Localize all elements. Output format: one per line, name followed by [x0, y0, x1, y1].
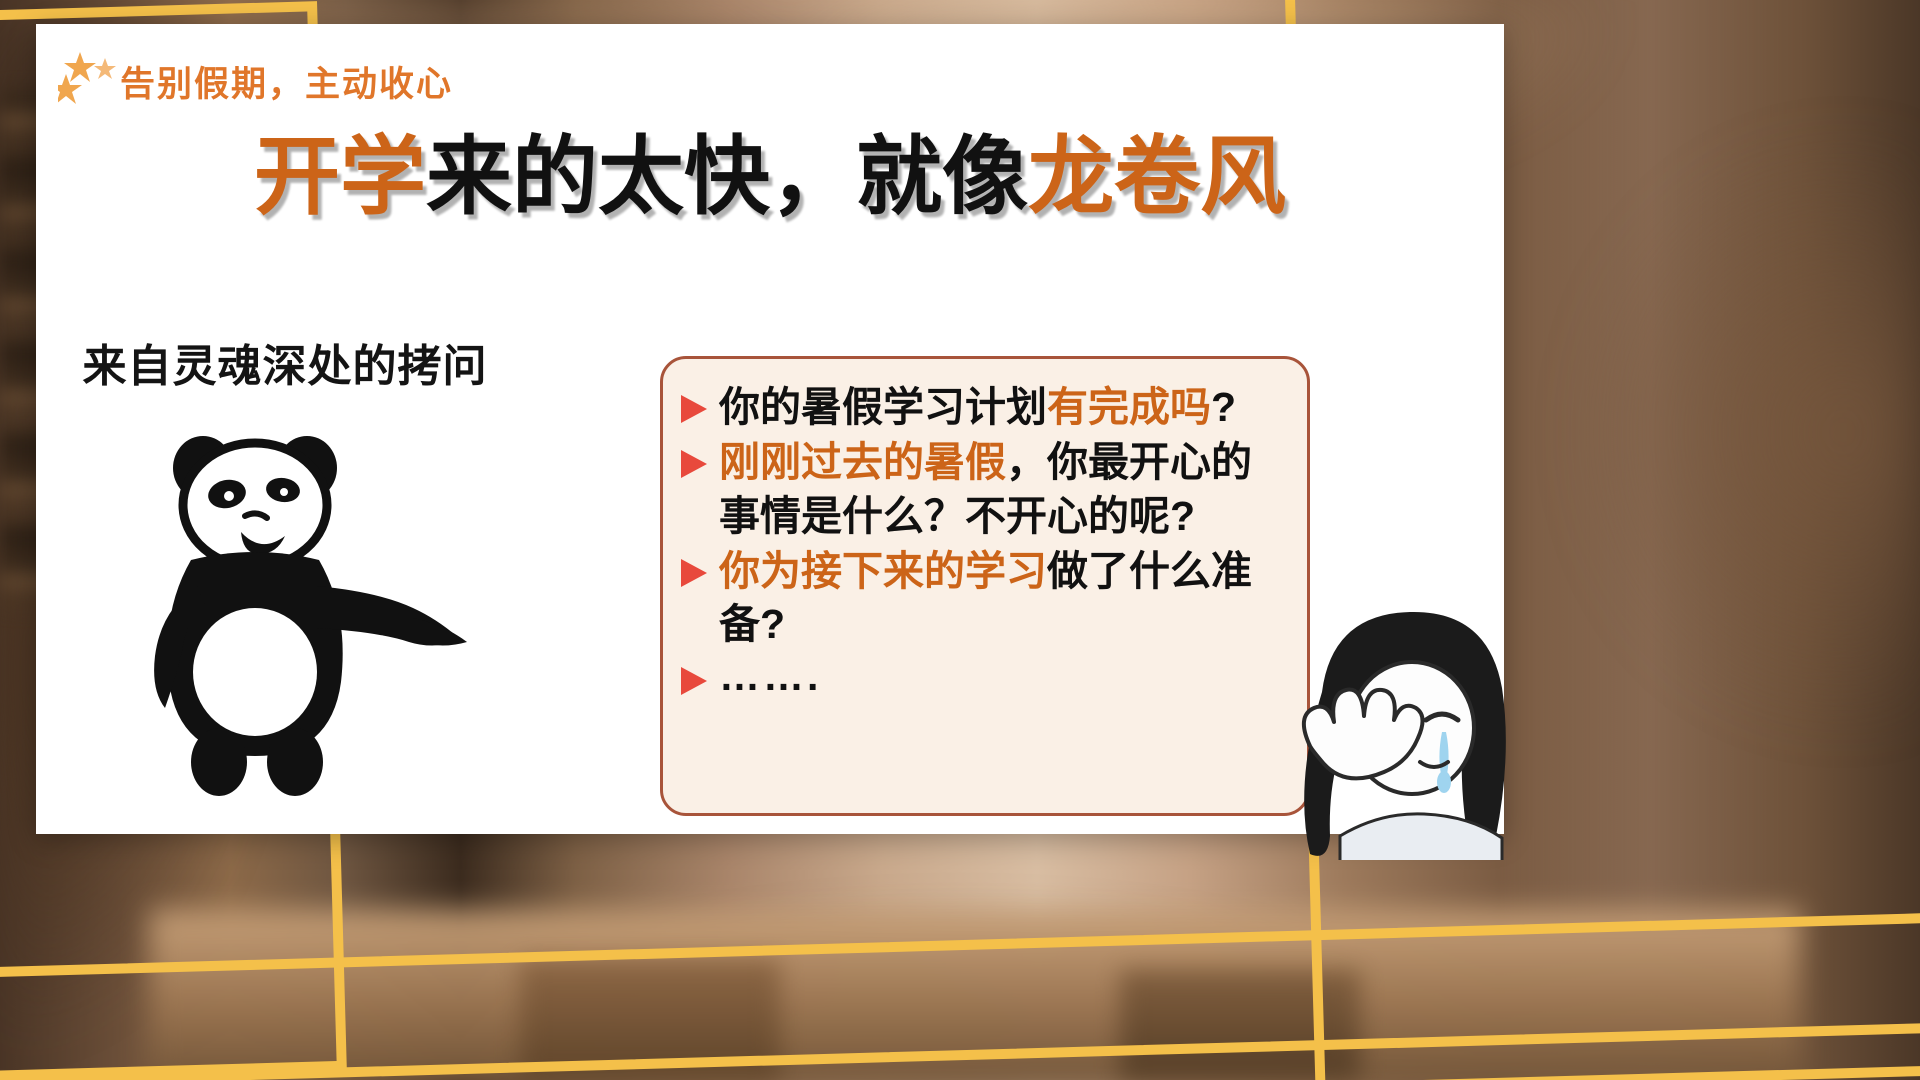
question-bullet-2: 刚刚过去的暑假，你最开心的事情是什么？不开心的呢? [679, 436, 1289, 543]
q2-seg-1: 刚刚过去的暑假 [719, 439, 1006, 485]
eyebrow-heading: 告别假期，主动收心 [120, 56, 453, 107]
q1-seg-3: ? [1211, 384, 1236, 430]
q3-seg-1: 你为接下来的学习 [719, 548, 1047, 594]
crying-person-icon [1190, 600, 1520, 860]
meme-caption: 来自灵魂深处的拷问 [50, 330, 520, 394]
triangle-bullet-icon [679, 653, 719, 697]
question-text-2: 刚刚过去的暑假，你最开心的事情是什么？不开心的呢? [719, 436, 1289, 543]
title-part-3: 龙卷风 [1028, 129, 1286, 225]
title-part-1: 开学 [254, 129, 426, 225]
pointing-panda-meme-icon [95, 410, 485, 810]
question-bullet-1: 你的暑假学习计划有完成吗? [679, 381, 1289, 434]
triangle-bullet-icon [679, 436, 719, 480]
presentation-slide: 告别假期，主动收心 开学来的太快，就像龙卷风 来自灵魂深处的拷问 [0, 0, 1920, 1080]
title-part-2: 来的太快，就像 [426, 129, 1028, 225]
q1-seg-1: 你的暑假学习计划 [719, 384, 1047, 430]
page-title: 开学来的太快，就像龙卷风 [36, 132, 1504, 222]
sparkle-stars-icon [58, 52, 118, 108]
question-text-4: ……. [719, 653, 821, 700]
triangle-bullet-icon [679, 545, 719, 589]
triangle-bullet-icon [679, 381, 719, 425]
q1-seg-2: 有完成吗 [1047, 384, 1211, 430]
question-text-1: 你的暑假学习计划有完成吗? [719, 381, 1236, 434]
